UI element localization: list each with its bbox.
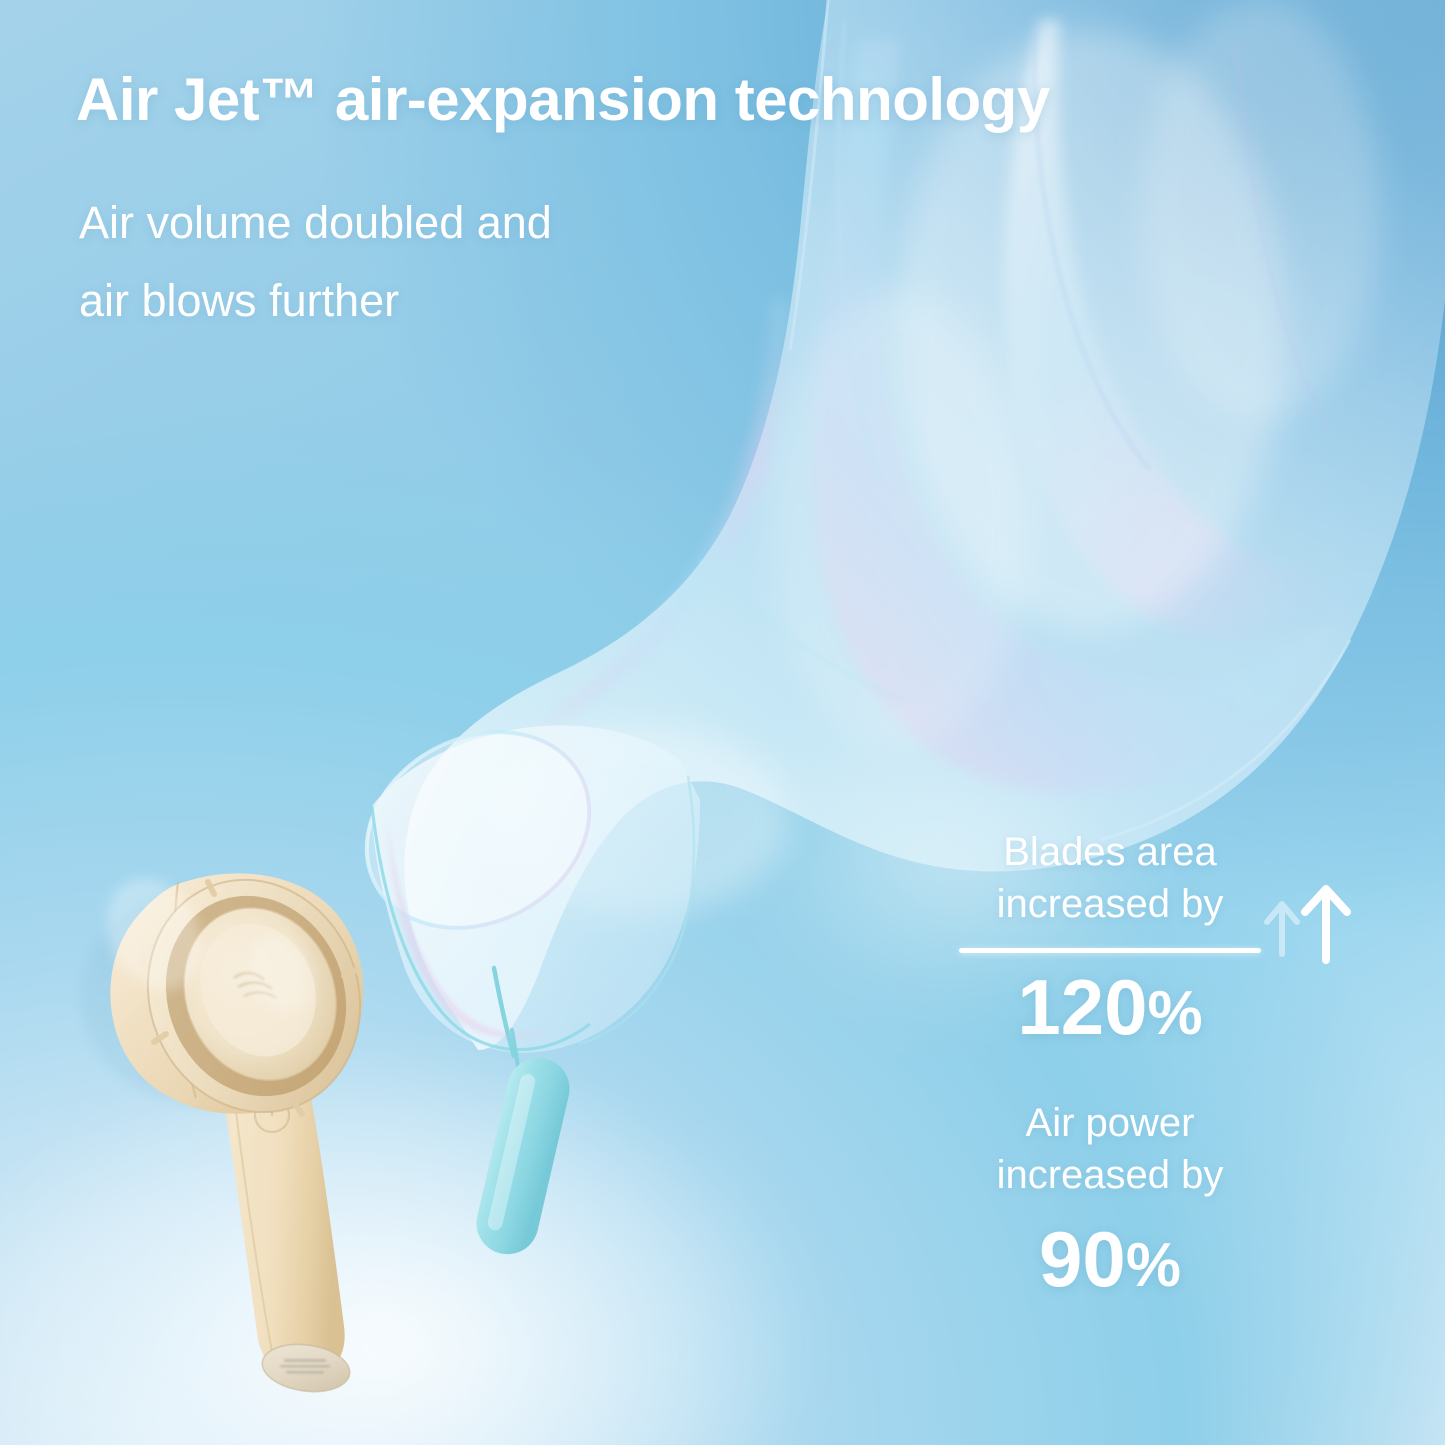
stat-blades-area: Blades area increased by 120% xyxy=(900,826,1320,1053)
stat-divider xyxy=(959,948,1261,953)
stat-number: 90 xyxy=(1039,1215,1126,1303)
bubble-highlight-2 xyxy=(1140,0,1380,420)
strap-cord xyxy=(494,968,514,1056)
stat-label-line-2: increased by xyxy=(900,878,1320,930)
stat-air-power: Air power increased by 90% xyxy=(900,1097,1320,1305)
stat-label: Air power increased by xyxy=(900,1097,1320,1201)
stat-value: 90% xyxy=(900,1213,1320,1305)
handheld-fan-product xyxy=(58,856,418,1436)
stat-value: 120% xyxy=(900,961,1320,1053)
stat-label-line-1: Air power xyxy=(900,1097,1320,1149)
stat-unit: % xyxy=(1126,1231,1181,1300)
fan-bottom-cap-label xyxy=(280,1359,330,1374)
bubble-highlight-3 xyxy=(770,290,1030,750)
stat-number: 120 xyxy=(1017,963,1147,1051)
stat-label-line-2: increased by xyxy=(900,1149,1320,1201)
lanyard-strap xyxy=(430,960,630,1290)
product-marketing-image: Air Jet™ air-expansion technology Air vo… xyxy=(0,0,1445,1445)
statistics-block: Blades area increased by 120% Air power … xyxy=(900,826,1320,1305)
page-title: Air Jet™ air-expansion technology xyxy=(76,68,1406,133)
subtitle-line-1: Air volume doubled and xyxy=(79,184,899,262)
stat-unit: % xyxy=(1148,979,1203,1048)
stat-label: Blades area increased by xyxy=(900,826,1320,930)
subtitle: Air volume doubled and air blows further xyxy=(79,184,899,340)
subtitle-line-2: air blows further xyxy=(79,262,899,340)
stat-label-line-1: Blades area xyxy=(900,826,1320,878)
